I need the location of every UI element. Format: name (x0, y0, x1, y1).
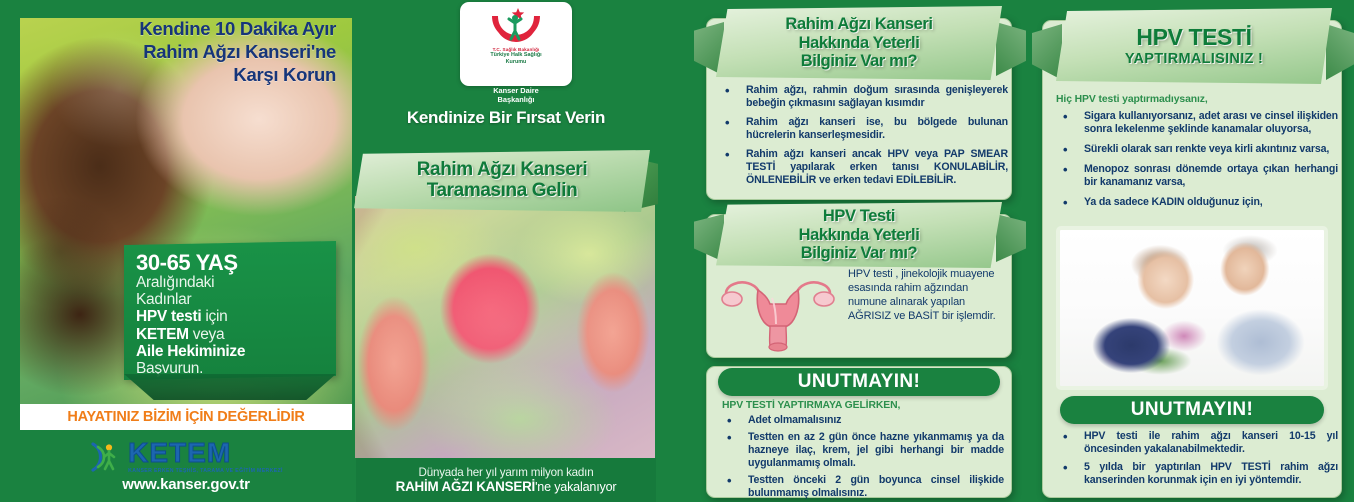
panel2-heading: Kendinize Bir Fırsat Verin (356, 108, 656, 128)
hpv-test-description: HPV testi , jinekolojik muayene esasında… (848, 268, 1008, 323)
panel2-banner: Rahim Ağzı Kanseri Taramasına Gelin (354, 150, 650, 212)
panel2-banner-line2: Taramasına Gelin (417, 181, 588, 202)
ketem-wordmark: KETEM (128, 439, 283, 467)
panel1-title: Kendine 10 Dakika Ayır Rahim Ağzı Kanser… (20, 18, 352, 86)
panel2-footer: Dünyada her yıl yarım milyon kadın RAHİM… (356, 458, 656, 502)
ketem-figure-icon (89, 440, 123, 474)
ribbon2-line1: HPV Testi (799, 207, 920, 225)
callout-hpv-line: HPV testi için (136, 308, 326, 325)
callout-line3: Kadınlar (136, 291, 326, 308)
ketem-logo-block: KETEM KANSER ERKEN TEŞHİS, TARAMA VE EĞİ… (20, 430, 352, 502)
list-item: Rahim ağzı kanseri ise, bu bölgede bulun… (712, 116, 1008, 142)
list-item: Menopoz sonrası dönemde ortaya çıkan her… (1050, 163, 1338, 189)
cervical-cancer-bullet-list: Rahim ağzı, rahmin doğum sırasında geniş… (712, 84, 1008, 192)
panel4-reminder-bullet-list: HPV testi ile rahim ağzı kanseri 10-15 y… (1050, 430, 1338, 492)
ketem-subtitle: KANSER ERKEN TEŞHİS, TARAMA VE EĞİTİM ME… (128, 468, 283, 474)
panel-prevention: Kendine 10 Dakika Ayır Rahim Ağzı Kanser… (20, 0, 352, 502)
department-line2: Başkanlığı (460, 95, 572, 104)
department-line1: Kanser Daire (460, 86, 572, 95)
ribbon1-right-wing (996, 22, 1026, 76)
uterus-anatomy-icon (712, 268, 844, 352)
cervical-cancer-ribbon: Rahim Ağzı Kanseri Hakkında Yeterli Bilg… (716, 6, 1002, 80)
ribbon1-line2: Hakkında Yeterli (785, 34, 932, 52)
ribbon2-line3: Bilginiz Var mı? (799, 244, 920, 262)
callout-age-range: 30-65 YAŞ (136, 251, 326, 274)
panel3-reminder-sublabel: HPV TESTİ YAPTIRMAYA GELİRKEN, (722, 400, 900, 411)
callout-ketem-line: KETEM veya (136, 326, 326, 343)
panel4-sublabel: Hiç HPV testi yaptırmadıysanız, (1056, 94, 1208, 105)
callout-line2: Aralığındaki (136, 274, 326, 291)
panel1-title-line3: Karşı Korun (20, 64, 336, 87)
list-item: Sürekli olarak sarı renkte veya kirli ak… (1050, 143, 1338, 156)
list-item: Rahim ağzı, rahmin doğum sırasında geniş… (712, 84, 1008, 110)
callout-fold-shadow (124, 374, 336, 400)
panel1-title-line2: Rahim Ağzı Kanseri'ne (20, 41, 336, 64)
panel4-ribbon-right-wing (1326, 24, 1354, 80)
ministry-line3: Kurumu (506, 59, 527, 66)
ketem-website-url[interactable]: www.kanser.gov.tr (122, 476, 249, 493)
panel1-tagline: HAYATINIZ BİZİM İÇİN DEĞERLİDİR (20, 404, 352, 430)
hpv-test-recommendation-ribbon: HPV TESTİ YAPTIRMALISINIZ ! (1056, 8, 1332, 84)
list-item: Adet olmamalısınız (714, 414, 1004, 427)
ministry-of-health-logo: T.C. Sağlık Bakanlığı Türkiye Halk Sağlı… (460, 2, 572, 86)
ministry-department-caption: Kanser Daire Başkanlığı (460, 86, 572, 104)
panel4-ribbon-line1: HPV TESTİ (1125, 25, 1263, 51)
list-item: Rahim ağzı kanseri ancak HPV veya PAP SM… (712, 148, 1008, 187)
ribbon1-line3: Bilginiz Var mı? (785, 52, 932, 70)
ribbon1-line1: Rahim Ağzı Kanseri (785, 15, 932, 33)
ministry-line2: Türkiye Halk Sağlığı (490, 52, 541, 59)
panel3-reminder-bullet-list: Adet olmamalısınız Testten en az 2 gün ö… (714, 414, 1004, 502)
ribbon2-right-wing (996, 214, 1026, 262)
elderly-couple-photo (1056, 226, 1328, 390)
age-range-callout: 30-65 YAŞ Aralığındaki Kadınlar HPV test… (124, 241, 336, 380)
list-item: Sigara kullanıyorsanız, adet arası ve ci… (1050, 110, 1338, 136)
brochure-canvas: Kendine 10 Dakika Ayır Rahim Ağzı Kanser… (0, 0, 1354, 502)
hpv-test-ribbon: HPV Testi Hakkında Yeterli Bilginiz Var … (716, 202, 1002, 268)
list-item: 5 yılda bir yaptırılan HPV TESTİ rahim a… (1050, 461, 1338, 487)
callout-line6: Aile Hekiminize (136, 343, 326, 360)
hands-holding-heart-photo (355, 196, 655, 458)
list-item: Ya da sadece KADIN olduğunuz için, (1050, 196, 1338, 209)
ribbon2-line2: Hakkında Yeterli (799, 226, 920, 244)
ministry-emblem-icon (488, 6, 544, 46)
panel4-unutmayin-badge: UNUTMAYIN! (1060, 396, 1324, 424)
panel3-unutmayin-badge: UNUTMAYIN! (718, 368, 1000, 396)
panel4-ribbon-line2: YAPTIRMALISINIZ ! (1125, 51, 1263, 67)
footer-statistic-line1: Dünyada her yıl yarım milyon kadın (419, 466, 594, 479)
panel2-banner-line1: Rahim Ağzı Kanseri (417, 160, 588, 181)
panel1-title-line1: Kendine 10 Dakika Ayır (20, 18, 336, 41)
panel4-bullet-list: Sigara kullanıyorsanız, adet arası ve ci… (1050, 110, 1338, 216)
footer-statistic-line2: RAHİM AĞZI KANSERİ'ne yakalanıyor (396, 479, 617, 494)
list-item: Testten en az 2 gün önce hazne yıkanmamı… (714, 431, 1004, 470)
list-item: Testten önceki 2 gün boyunca cinsel iliş… (714, 474, 1004, 500)
list-item: HPV testi ile rahim ağzı kanseri 10-15 y… (1050, 430, 1338, 456)
